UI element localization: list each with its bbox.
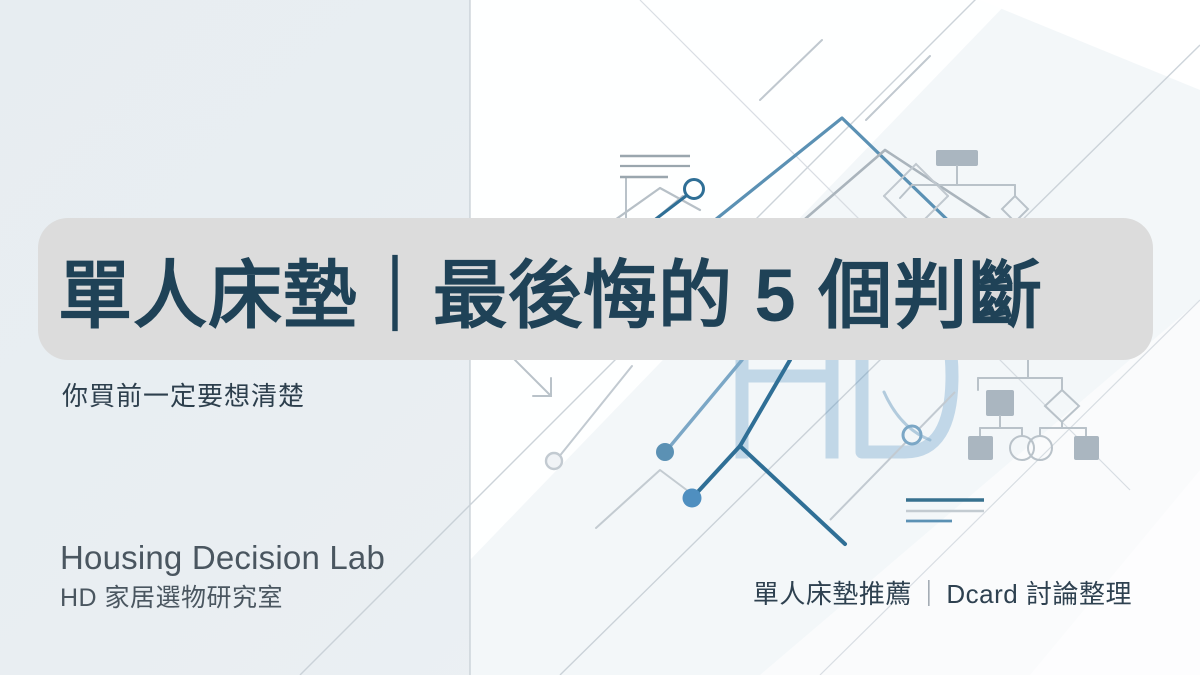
brand-subtitle: HD 家居選物研究室 [60, 583, 385, 615]
footer-tag-separator: ｜ [912, 579, 947, 609]
footer-tag-right: Dcard 討論整理 [946, 579, 1132, 609]
flowchart-node-group-bottom [968, 360, 1099, 460]
cover-canvas: 單人床墊｜最後悔的 5 個判斷 你買前一定要想清楚 Housing Decisi… [0, 0, 1200, 675]
footer-tag-left: 單人床墊推薦 [753, 579, 912, 609]
brand-name: Housing Decision Lab [60, 537, 385, 579]
page-title: 單人床墊｜最後悔的 5 個判斷 [38, 218, 1153, 360]
subtitle: 你買前一定要想清楚 [62, 376, 305, 413]
text-placeholder-lines-bottom [906, 500, 984, 521]
brand-block: Housing Decision Lab HD 家居選物研究室 [60, 537, 385, 614]
footer-tag: 單人床墊推薦｜Dcard 討論整理 [753, 574, 1132, 611]
text-placeholder-lines-top [620, 156, 690, 177]
